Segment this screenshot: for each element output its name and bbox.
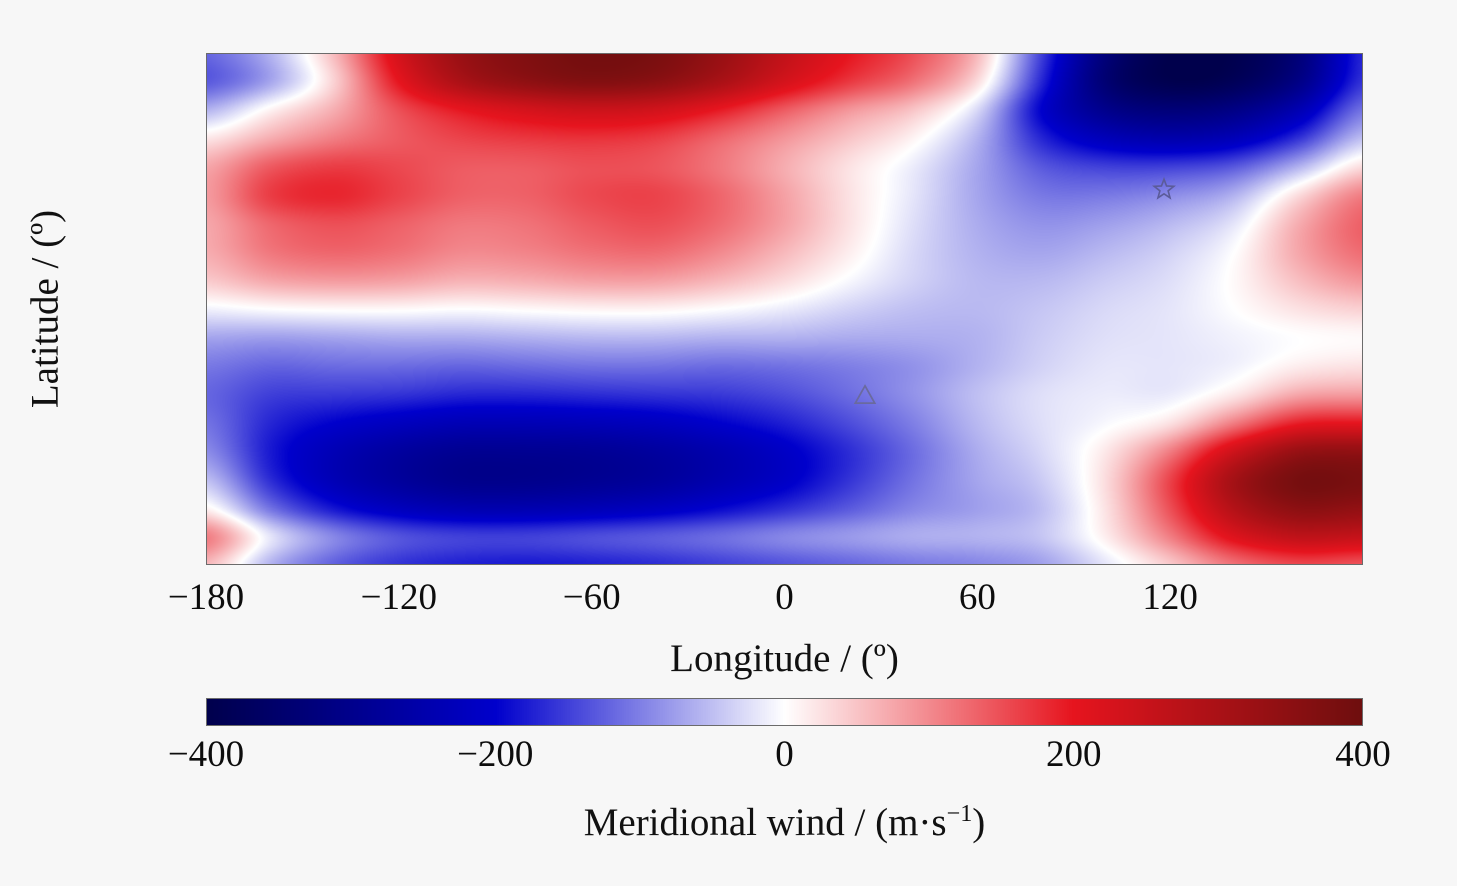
y-axis-label-wrap: Latitude / (º): [0, 53, 90, 565]
contour-plot-area[interactable]: [206, 53, 1363, 565]
colorbar-label-exponent: −1: [947, 800, 973, 827]
x-tick-label: −120: [361, 579, 437, 616]
figure-root: 806040200−20−40−60−80 −180−120−60060120 …: [0, 0, 1457, 886]
colorbar-label-text: Meridional wind / (m·s: [584, 801, 947, 844]
colorbar-tick-label: −200: [457, 733, 533, 776]
x-tick-label: −60: [563, 579, 621, 616]
x-tick-label: 120: [1142, 579, 1198, 616]
colorbar-gradient: [206, 698, 1363, 726]
colorbar[interactable]: [206, 698, 1363, 726]
colorbar-tick-label: 400: [1335, 733, 1391, 776]
x-tick-label: 60: [959, 579, 996, 616]
colorbar-tick-label: −400: [168, 733, 244, 776]
x-axis-label: Longitude / (º): [206, 636, 1363, 681]
y-axis-label: Latitude / (º): [23, 210, 68, 408]
x-tick-label: 0: [775, 579, 794, 616]
wind-field-heatmap: [206, 53, 1363, 565]
colorbar-tick-label: 200: [1046, 733, 1102, 776]
colorbar-label-tail: ): [972, 801, 985, 844]
x-tick-label: −180: [168, 579, 244, 616]
colorbar-label: Meridional wind / (m·s−1): [206, 800, 1363, 845]
colorbar-tick-label: 0: [775, 733, 794, 776]
